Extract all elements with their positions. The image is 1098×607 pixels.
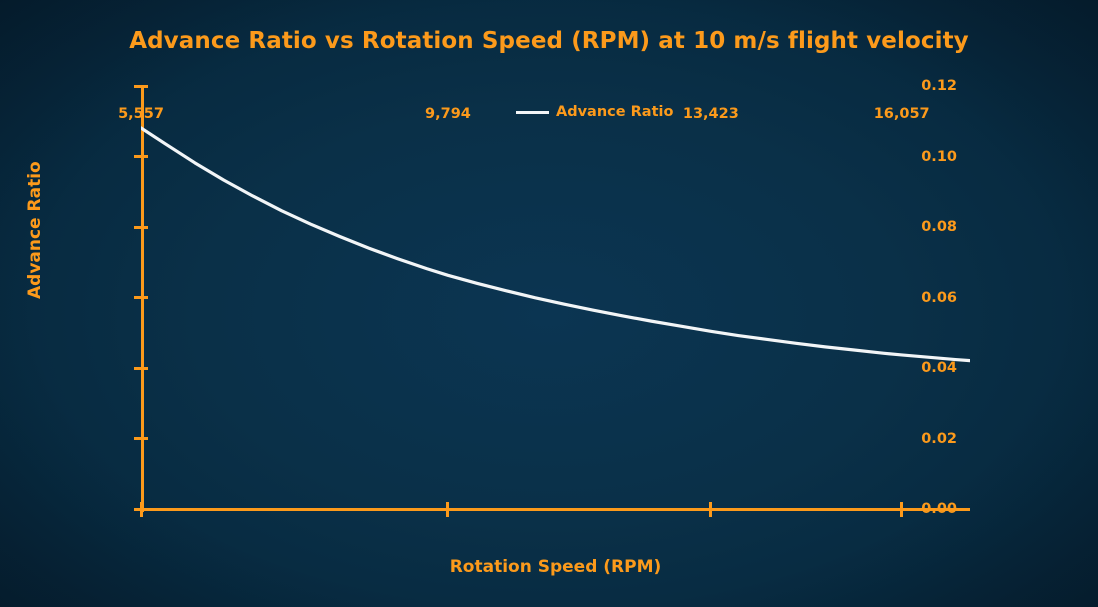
legend-line-swatch xyxy=(516,111,549,114)
plot-area: 0.000.020.040.060.080.100.12 5,5579,7941… xyxy=(141,86,970,511)
series-line-advance-ratio xyxy=(141,128,970,361)
page-title: Advance Ratio vs Rotation Speed (RPM) at… xyxy=(0,28,1098,54)
chart-figure: Advance Ratio vs Rotation Speed (RPM) at… xyxy=(0,0,1098,607)
series-plot xyxy=(141,86,970,512)
legend-item-label: Advance Ratio xyxy=(556,104,673,120)
y-axis-title: Advance Ratio xyxy=(25,161,45,299)
x-axis-title: Rotation Speed (RPM) xyxy=(141,557,970,577)
legend: Advance Ratio xyxy=(516,104,673,120)
